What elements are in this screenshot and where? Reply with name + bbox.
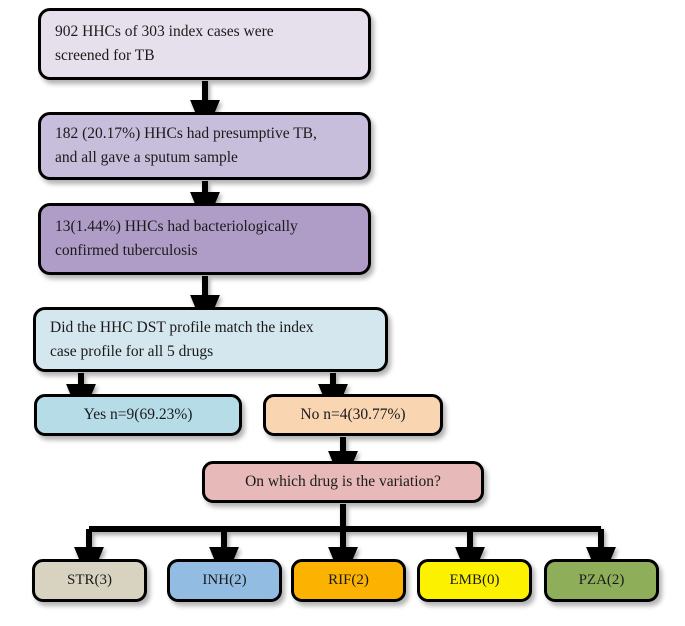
node-drug-variation-question: On which drug is the variation? [202,461,484,503]
node-dst-profile-question: Did the HHC DST profile match the index … [33,307,388,372]
drug-chip-label: STR(3) [35,572,144,589]
node-drug-str: STR(3) [32,559,147,602]
node-drug-rif: RIF(2) [291,559,406,602]
drug-chip-label: INH(2) [170,572,279,589]
node-drug-inh: INH(2) [167,559,282,602]
node-dst-match-no: No n=4(30.77%) [263,394,443,436]
node-drug-pza: PZA(2) [544,559,659,602]
node-no-label: No n=4(30.77%) [266,406,440,424]
node-confirmed-tb: 13(1.44%) HHCs had bacteriologically con… [38,203,371,275]
drug-chip-label: EMB(0) [420,572,529,589]
node-confirmed-label: 13(1.44%) HHCs had bacteriologically con… [55,215,354,262]
node-screened-label: 902 HHCs of 303 index cases were screene… [55,20,354,67]
node-screened-for-tb: 902 HHCs of 303 index cases were screene… [38,8,371,80]
node-variation-label: On which drug is the variation? [205,473,481,491]
node-presumptive-label: 182 (20.17%) HHCs had presumptive TB, an… [55,122,354,169]
node-presumptive-tb: 182 (20.17%) HHCs had presumptive TB, an… [38,112,371,180]
node-drug-emb: EMB(0) [417,559,532,602]
drug-chip-label: RIF(2) [294,572,403,589]
drug-chip-label: PZA(2) [547,572,656,589]
node-dst-match-yes: Yes n=9(69.23%) [34,394,242,436]
node-dst-question-label: Did the HHC DST profile match the index … [50,316,371,363]
node-yes-label: Yes n=9(69.23%) [37,406,239,424]
flowchart-diagram: 902 HHCs of 303 index cases were screene… [0,0,685,626]
